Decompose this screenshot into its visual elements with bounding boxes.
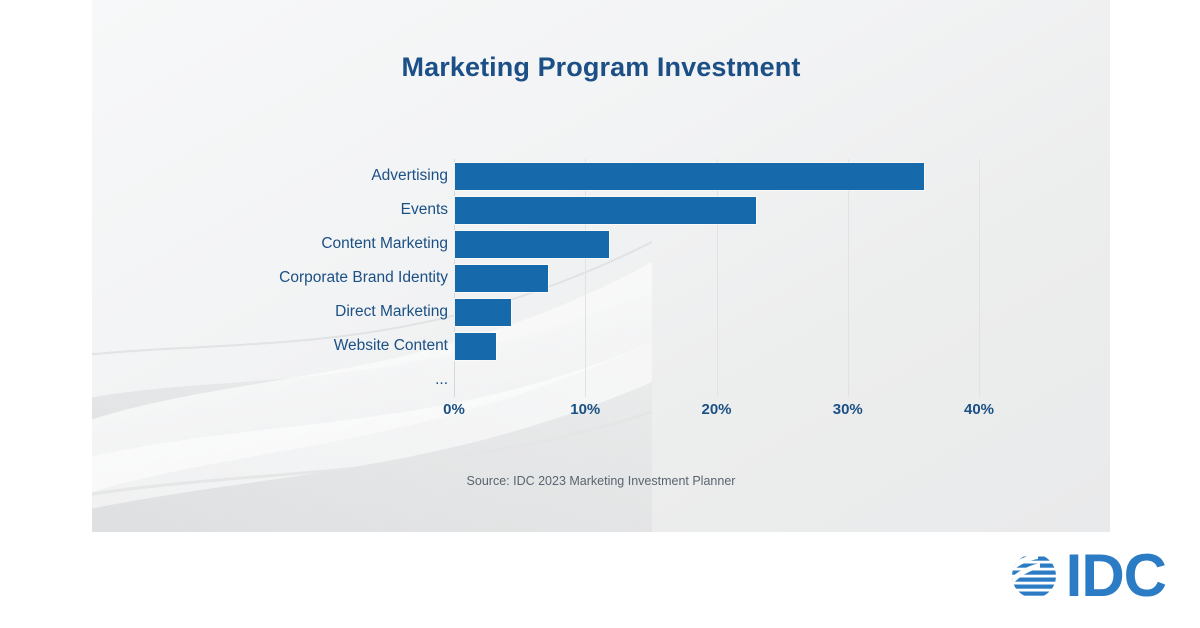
bar: [455, 163, 924, 190]
category-label: Advertising: [371, 159, 448, 193]
bar: [455, 231, 609, 258]
gridline: [848, 159, 849, 397]
category-label: ...: [435, 363, 448, 397]
category-label: Website Content: [334, 329, 448, 363]
category-label: Direct Marketing: [335, 295, 448, 329]
slide-panel: Marketing Program Investment Advertising…: [92, 0, 1110, 532]
idc-logo: IDC: [1004, 546, 1166, 606]
bar: [455, 333, 496, 360]
gridline: [717, 159, 718, 397]
axis-tick-label: 20%: [701, 401, 731, 418]
axis-tick-label: 30%: [833, 401, 863, 418]
gridline: [979, 159, 980, 397]
idc-wordmark: IDC: [1066, 546, 1166, 606]
value-axis-ticks: 0%10%20%30%40%: [454, 401, 1005, 423]
plot-area: [454, 159, 1005, 397]
axis-tick-label: 40%: [964, 401, 994, 418]
chart-title: Marketing Program Investment: [92, 52, 1110, 83]
bar: [455, 265, 548, 292]
bar: [455, 197, 756, 224]
category-label: Events: [401, 193, 448, 227]
source-note: Source: IDC 2023 Marketing Investment Pl…: [92, 474, 1110, 488]
idc-globe-icon: [1004, 546, 1064, 606]
category-label: Corporate Brand Identity: [279, 261, 448, 295]
category-axis-labels: AdvertisingEventsContent MarketingCorpor…: [152, 159, 448, 397]
axis-tick-label: 10%: [570, 401, 600, 418]
axis-tick-label: 0%: [443, 401, 465, 418]
bar: [455, 299, 511, 326]
category-label: Content Marketing: [321, 227, 448, 261]
gridline: [585, 159, 586, 397]
